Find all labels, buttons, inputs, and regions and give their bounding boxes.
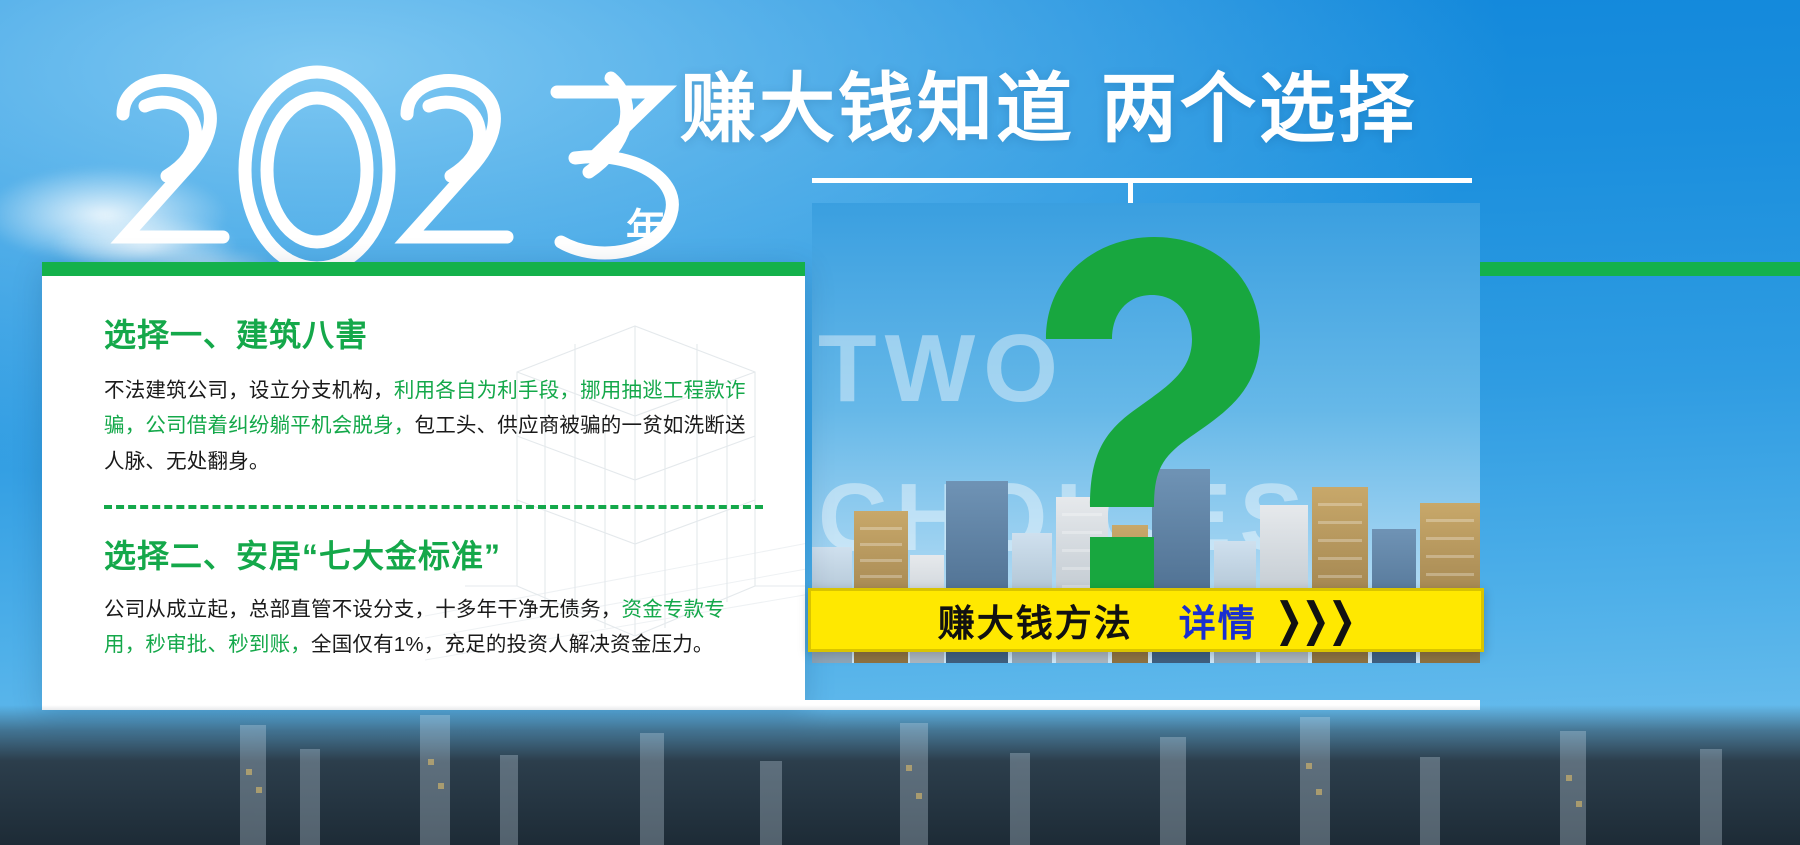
content-card: 选择一、建筑八害 不法建筑公司，设立分支机构，利用各自为利手段，挪用抽逃工程款诈… [42,262,805,709]
section-one-body: 不法建筑公司，设立分支机构，利用各自为利手段，挪用抽逃工程款诈骗，公司借着纠纷躺… [104,373,763,479]
banner-stage: 年 赚大钱知道两个选择 TWO CHOICES [0,0,1800,845]
text-run: 全国仅有1%，充足的投资人解决资金压力。 [311,633,714,656]
text-run: 不法建筑公司，设立分支机构， [104,379,394,402]
headline-underline [812,178,1472,183]
text-run: 公司从成立起，总部直管不设分支，十多年干净无债务， [104,598,622,621]
section-divider [104,505,763,509]
headline-left: 赚大钱知道 [680,67,1075,152]
page-title: 赚大钱知道两个选择 [680,72,1417,148]
section-one: 选择一、建筑八害 不法建筑公司，设立分支机构，利用各自为利手段，挪用抽逃工程款诈… [104,318,763,479]
green-accent-edge [1476,262,1800,276]
section-one-title: 选择一、建筑八害 [104,318,763,353]
question-mark-icon [984,221,1284,641]
section-two: 选择二、安居“七大金标准” 公司从成立起，总部直管不设分支，十多年干净无债务，资… [104,539,763,663]
year-suffix-label: 年 [626,196,667,254]
headline-right: 两个选择 [1101,67,1417,152]
bottom-strip-lights [0,705,1800,845]
cta-more-label: 详情 [1179,593,1257,647]
chevron-right-icon: ❯❯❯ [1275,600,1355,640]
section-two-title: 选择二、安居“七大金标准” [104,539,763,574]
cta-main-label: 赚大钱方法 [938,593,1133,647]
cta-button[interactable]: 赚大钱方法 详情 ❯❯❯ [808,588,1484,652]
section-two-body: 公司从成立起，总部直管不设分支，十多年干净无债务，资金专款专用，秒审批、秒到账，… [104,592,763,663]
